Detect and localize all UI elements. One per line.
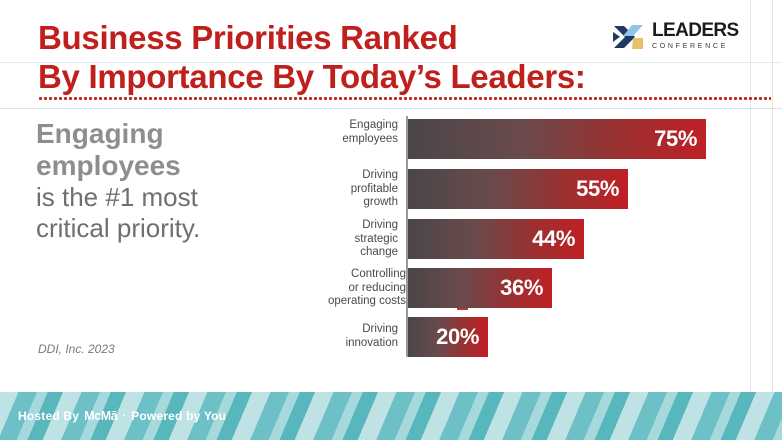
- bar-label-line: Driving: [294, 219, 398, 233]
- footer-brand-logo: McMā: [84, 409, 117, 423]
- source-attribution: DDI, Inc. 2023: [38, 342, 115, 356]
- bar-label-line: growth: [294, 196, 398, 210]
- bar-label-line: employees: [294, 133, 398, 147]
- bar-controlling-operating-costs: 36%: [408, 268, 552, 308]
- bar-category-label: Engaging employees: [294, 119, 398, 146]
- bar-driving-profitable-growth: 55%: [408, 169, 628, 209]
- bar-label-line: operating costs: [294, 295, 406, 309]
- chart-bar-row: Driving innovation 20%: [310, 317, 750, 357]
- slide-canvas: Business Priorities Ranked By Importance…: [0, 0, 782, 440]
- footer-credit-text: Hosted By McMā · Powered by You: [18, 409, 226, 423]
- chart-bar-row: Driving strategic change 44%: [310, 219, 750, 259]
- bar-label-line: change: [294, 246, 398, 260]
- guide-line-vertical-1: [750, 0, 751, 440]
- bar-label-line: or reducing: [294, 282, 406, 296]
- footer-bar: Hosted By McMā · Powered by You: [0, 392, 782, 440]
- callout-light-line-2: critical priority.: [36, 213, 304, 244]
- title-dotted-underline: [38, 97, 771, 100]
- bar-label-line: Driving: [294, 169, 398, 183]
- footer-prefix: Hosted By: [18, 409, 79, 423]
- callout-text-block: Engaging employees is the #1 most critic…: [36, 118, 304, 244]
- guide-line-vertical-2: [772, 0, 773, 440]
- bar-label-line: Controlling: [294, 268, 406, 282]
- bar-value-label: 75%: [654, 126, 706, 152]
- bar-value-label: 44%: [532, 226, 584, 252]
- guide-line-horizontal-2: [0, 108, 782, 109]
- bar-category-label: Controlling or reducing operating costs: [294, 268, 406, 309]
- bar-engaging-employees: 75%: [408, 119, 706, 159]
- bar-category-label: Driving strategic change: [294, 219, 398, 260]
- chart-bar-row: Driving profitable growth 55%: [310, 169, 750, 209]
- bar-value-label: 55%: [576, 176, 628, 202]
- title-line-1: Business Priorities Ranked: [38, 18, 628, 57]
- title-line-2: By Importance By Today’s Leaders:: [38, 57, 628, 96]
- footer-separator: ·: [122, 410, 126, 422]
- stray-red-dash-mark: [457, 308, 468, 310]
- chart-bar-row: Engaging employees 75%: [310, 119, 750, 159]
- bar-value-label: 20%: [436, 324, 488, 350]
- callout-bold-line-2: employees: [36, 150, 304, 182]
- bar-label-line: strategic: [294, 233, 398, 247]
- bar-chart: Engaging employees 75% Driving profitabl…: [310, 116, 750, 361]
- callout-bold-line-1: Engaging: [36, 118, 304, 150]
- bar-driving-innovation: 20%: [408, 317, 488, 357]
- bar-value-label: 36%: [500, 275, 552, 301]
- bar-label-line: Engaging: [294, 119, 398, 133]
- logo-primary-text: LEADERS: [652, 21, 739, 40]
- chart-bar-row: Controlling or reducing operating costs …: [310, 268, 750, 308]
- bar-label-line: profitable: [294, 183, 398, 197]
- footer-suffix: Powered by You: [131, 409, 226, 423]
- bar-label-line: Driving: [294, 323, 398, 337]
- page-title: Business Priorities Ranked By Importance…: [38, 18, 628, 96]
- bar-label-line: innovation: [294, 337, 398, 351]
- leaders-x-mark-icon: [612, 23, 646, 51]
- callout-light-line-1: is the #1 most: [36, 182, 304, 213]
- logo-wordmark: LEADERS CONFERENCE: [652, 21, 739, 52]
- bar-category-label: Driving profitable growth: [294, 169, 398, 210]
- leaders-conference-logo: LEADERS CONFERENCE: [612, 21, 760, 55]
- bar-driving-strategic-change: 44%: [408, 219, 584, 259]
- bar-category-label: Driving innovation: [294, 323, 398, 350]
- logo-secondary-text: CONFERENCE: [652, 42, 739, 52]
